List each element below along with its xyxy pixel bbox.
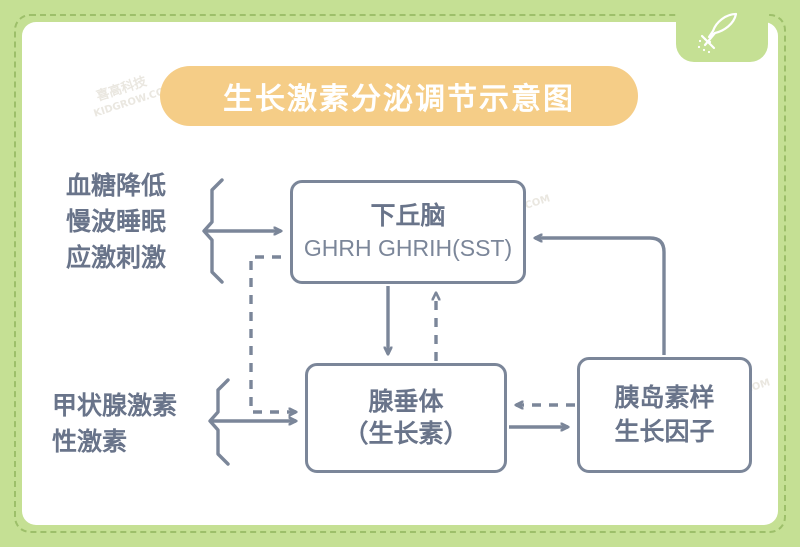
stimuli-lower-line2: 性激素 (52, 424, 177, 460)
node-pituitary-title: 腺垂体 (368, 386, 443, 418)
node-hypothalamus-subtitle: GHRH GHRIH(SST) (304, 233, 512, 263)
stimuli-lower-line1: 甲状腺激素 (52, 388, 177, 424)
node-pituitary-subtitle: （生长素） (343, 418, 468, 450)
stimuli-upper-line1: 血糖降低 (66, 168, 166, 204)
page-title-pill: 生长激素分泌调节示意图 (160, 66, 638, 126)
brand-logo-tab (676, 0, 768, 62)
arrow-dashed-inhibition-loop (251, 257, 296, 412)
node-hypothalamus-title: 下丘脑 (370, 201, 445, 231)
stimuli-upper-group: 血糖降低 慢波睡眠 应激刺激 (66, 168, 166, 276)
node-igf-title: 胰岛素样 (614, 381, 714, 415)
stimuli-lower-group: 甲状腺激素 性激素 (52, 388, 177, 460)
node-igf[interactable]: 胰岛素样 生长因子 (577, 357, 752, 473)
stimuli-upper-line2: 慢波睡眠 (66, 204, 166, 240)
node-pituitary[interactable]: 腺垂体 （生长素） (305, 363, 507, 473)
node-hypothalamus[interactable]: 下丘脑 GHRH GHRIH(SST) (290, 180, 526, 284)
stimuli-upper-line3: 应激刺激 (66, 240, 166, 276)
node-igf-subtitle: 生长因子 (614, 415, 714, 449)
leaf-sprout-icon (696, 8, 748, 56)
page-title: 生长激素分泌调节示意图 (223, 74, 575, 118)
arrow-igf-feedback-to-hypothalamus (535, 238, 664, 355)
